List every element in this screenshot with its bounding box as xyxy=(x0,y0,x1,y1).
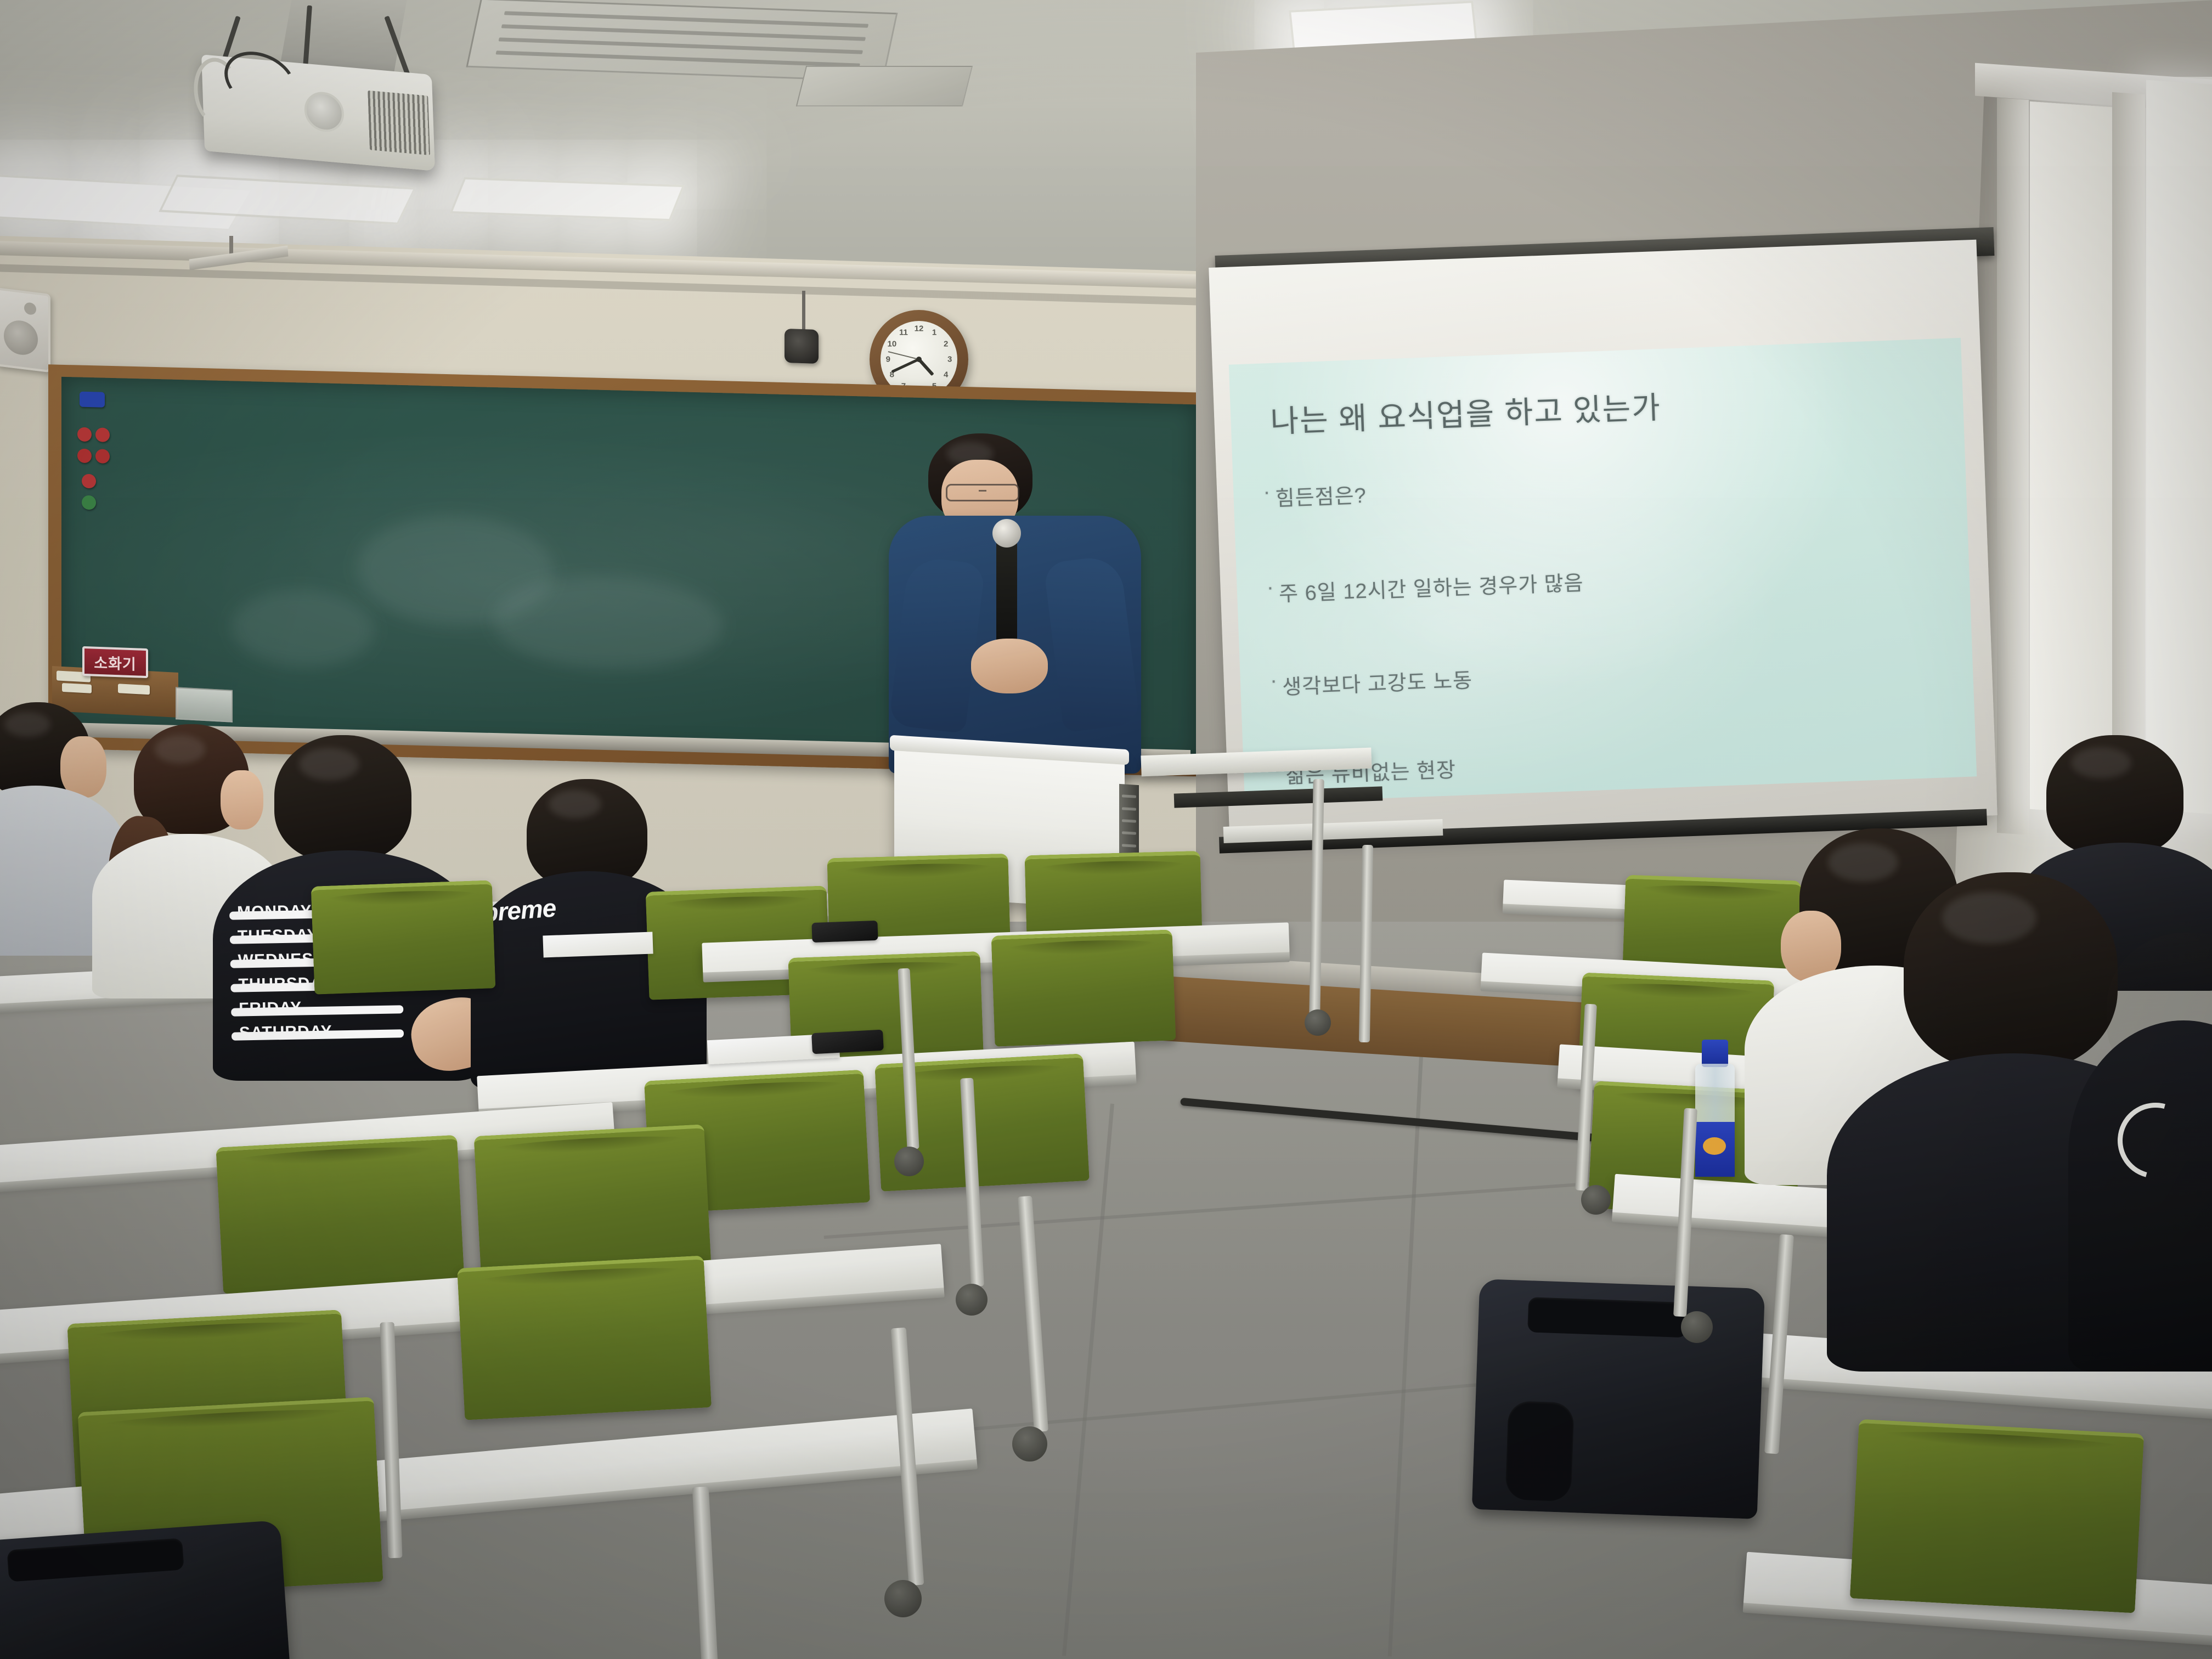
magnet-green-icon xyxy=(82,495,96,510)
eraser-box xyxy=(176,687,233,722)
student-torso xyxy=(2068,1020,2212,1372)
slide-title: 나는 왜 요식업을 하고 있는가 xyxy=(1269,383,1662,442)
chair[interactable] xyxy=(991,929,1176,1046)
ceiling-projector xyxy=(201,54,435,171)
backpack[interactable] xyxy=(0,1520,290,1659)
clock-numeral: 11 xyxy=(899,328,908,337)
caster-wheel xyxy=(1581,1185,1611,1215)
day-label: FRIDAY xyxy=(239,998,393,1018)
phone[interactable] xyxy=(811,1030,884,1054)
clock-numeral: 9 xyxy=(886,354,890,364)
clock-numeral: 4 xyxy=(944,370,948,380)
magnet-red-icon xyxy=(82,474,96,489)
presenter xyxy=(889,433,1141,785)
chair[interactable] xyxy=(311,880,496,994)
day-label: SATURDAY xyxy=(239,1023,394,1042)
student-head xyxy=(2046,735,2183,856)
bottle-label xyxy=(1695,1122,1735,1177)
phone[interactable] xyxy=(811,921,878,943)
window-pane xyxy=(2146,80,2212,815)
magnet-red-icon xyxy=(95,449,110,464)
speaker-woofer-icon xyxy=(4,319,38,357)
clock-numeral: 2 xyxy=(944,339,948,348)
clock-numeral: 1 xyxy=(932,328,936,337)
backpack[interactable] xyxy=(1472,1279,1765,1519)
caster-wheel xyxy=(1305,1009,1331,1036)
paper xyxy=(543,932,653,958)
clock-numeral: 10 xyxy=(888,339,897,348)
caster-wheel xyxy=(884,1580,922,1617)
clock-second-hand xyxy=(888,351,919,360)
clock-minute-hand xyxy=(891,358,919,373)
window-pillar xyxy=(2112,92,2145,824)
caster-wheel xyxy=(956,1284,988,1316)
glasses-icon xyxy=(946,484,1019,501)
projector-vent-icon xyxy=(368,90,430,155)
clock-numeral: 3 xyxy=(947,354,952,364)
hoodie-brand-text: preme xyxy=(482,888,620,927)
speaker-tweeter-icon xyxy=(24,302,36,315)
student-seated xyxy=(2085,933,2212,1372)
fire-extinguisher-sign: 소화기 xyxy=(82,646,148,678)
bottle-cap-icon xyxy=(1702,1040,1728,1067)
projector-mount xyxy=(279,0,407,71)
caster-wheel xyxy=(1681,1311,1713,1343)
presenter-hands xyxy=(971,639,1048,693)
student-face xyxy=(60,736,106,798)
magnet-red-icon xyxy=(95,428,110,443)
logo-script-icon xyxy=(2104,1089,2208,1193)
clock-center-pin xyxy=(916,357,922,362)
chair[interactable] xyxy=(216,1135,464,1294)
water-bottle[interactable] xyxy=(1695,1040,1735,1177)
slide-bullet: 힘든점은? xyxy=(1275,478,1367,512)
microphone-icon xyxy=(996,541,1017,645)
chair[interactable] xyxy=(1850,1419,2144,1613)
classroom-scene: 12 1 2 3 4 5 6 7 8 9 10 11 xyxy=(0,0,2212,1659)
ceiling-speaker-icon xyxy=(785,329,819,364)
microphone-boom xyxy=(802,291,805,330)
chair[interactable] xyxy=(457,1255,712,1420)
magnet-blue-icon xyxy=(80,392,105,408)
chair[interactable] xyxy=(474,1124,712,1277)
magnet-red-icon xyxy=(77,449,92,464)
ceiling-vent-small-icon xyxy=(796,66,973,106)
clock-numeral: 12 xyxy=(915,324,924,333)
student-head xyxy=(274,735,411,861)
projected-slide: 나는 왜 요식업을 하고 있는가 힘든점은? 주 6일 12시간 일하는 경우가… xyxy=(1229,338,1977,803)
wall-speaker-icon xyxy=(0,287,50,373)
magnet-red-icon xyxy=(77,427,92,442)
window-pillar xyxy=(1997,98,2029,835)
slide-bullet: 주 6일 12시간 일하는 경우가 많음 xyxy=(1278,566,1584,607)
caster-wheel xyxy=(894,1147,924,1176)
ceiling-light-panel xyxy=(450,177,685,221)
slide-bullet: 생각보다 고강도 노동 xyxy=(1282,663,1473,701)
caster-wheel xyxy=(1012,1426,1047,1462)
microphone-head-icon xyxy=(992,519,1021,548)
window-pane xyxy=(2030,101,2112,815)
projector-lens-icon xyxy=(303,91,344,134)
